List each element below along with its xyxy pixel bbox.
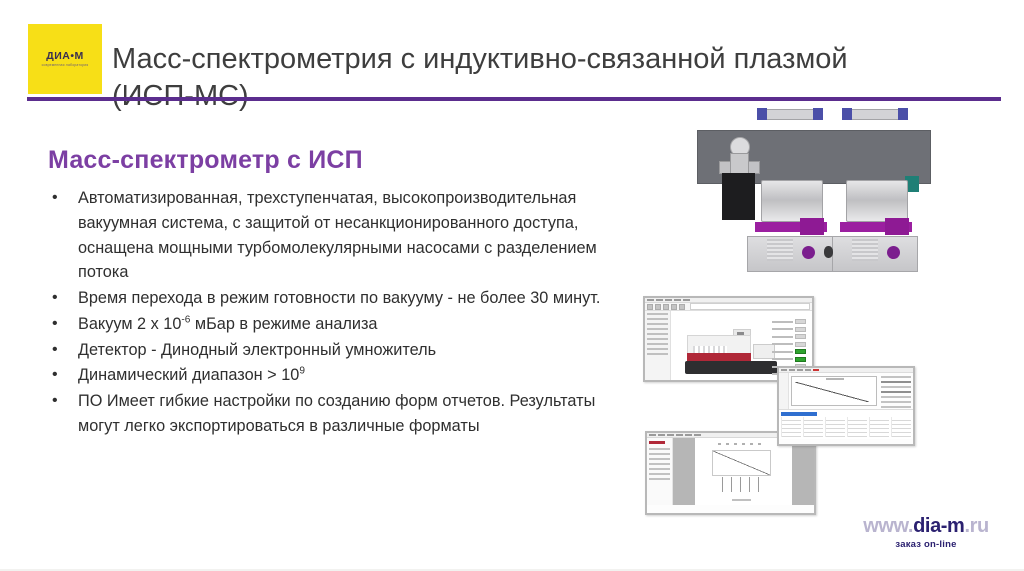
toolbar-field	[690, 303, 810, 310]
pump-knob	[887, 246, 900, 259]
menu-item	[797, 369, 803, 371]
report-footer-line	[732, 499, 751, 501]
option-row	[881, 381, 911, 383]
watermark-tld: ru	[970, 515, 989, 537]
menu-item	[805, 369, 811, 371]
flange-clamp	[898, 108, 908, 120]
bullet-list: • Автоматизированная, трехступенчатая, в…	[44, 186, 634, 440]
menu-item	[789, 369, 795, 371]
watermark-www: www	[863, 515, 908, 537]
nav-row	[647, 313, 668, 315]
report-chart	[712, 450, 770, 476]
table-column	[869, 417, 889, 437]
list-item: • Автоматизированная, трехступенчатая, в…	[44, 186, 634, 285]
plot-title-placeholder	[826, 378, 844, 380]
toolbar-button	[671, 304, 677, 310]
table-column	[847, 417, 867, 437]
status-led-active	[795, 357, 806, 362]
pump-knob	[802, 246, 815, 259]
bullet-marker: •	[52, 363, 58, 387]
status-label	[772, 336, 793, 338]
status-row	[772, 319, 806, 324]
connector-block	[800, 218, 824, 235]
menu-item	[674, 299, 681, 301]
nav-row	[649, 448, 670, 450]
turbomolecular-pump	[846, 180, 908, 222]
bullet-marker: •	[52, 186, 58, 210]
option-row	[881, 401, 911, 403]
status-led	[795, 342, 806, 347]
status-led	[795, 319, 806, 324]
status-label	[772, 328, 793, 330]
flange-clamp	[813, 108, 823, 120]
toolbar-button	[647, 304, 653, 310]
nav-row	[649, 453, 670, 455]
list-item: • ПО Имеет гибкие настройки по созданию …	[44, 389, 634, 439]
option-row	[881, 386, 911, 388]
watermark-subtitle: заказ on-line	[838, 539, 1014, 550]
status-label	[772, 321, 793, 323]
watermark-url: www.dia-m.ru	[838, 516, 1014, 536]
toolbar-button	[679, 304, 685, 310]
nav-row	[647, 318, 668, 320]
calibration-options-pane	[879, 373, 913, 409]
window-body	[647, 438, 814, 505]
list-item: • Динамический диапазон > 109	[44, 363, 634, 388]
menu-item	[658, 434, 665, 436]
status-label	[772, 358, 793, 360]
list-item: • Детектор - Динодный электронный умножи…	[44, 338, 634, 363]
title-divider-rule	[27, 97, 1001, 101]
table-column	[891, 417, 911, 437]
vacuum-system-figure	[637, 118, 1019, 286]
side-strip	[779, 373, 789, 409]
option-row	[881, 376, 911, 378]
logo-wordmark: ДИА•М	[46, 51, 84, 62]
table-row-selected	[781, 412, 817, 416]
nav-row	[647, 333, 668, 335]
list-item-text: Динамический диапазон > 10	[78, 366, 299, 384]
page-margin-right	[792, 438, 814, 505]
status-label	[772, 351, 793, 353]
company-logo: ДИА•М современная лаборатория	[28, 24, 102, 94]
option-row	[881, 391, 911, 393]
menu-item	[683, 299, 690, 301]
report-navigation-pane	[647, 438, 673, 505]
pump-port	[824, 246, 833, 258]
nav-row	[649, 478, 670, 480]
list-item-text: ПО Имеет гибкие настройки по созданию фо…	[78, 392, 595, 435]
toolbar-button	[663, 304, 669, 310]
status-label	[772, 343, 793, 345]
nav-row	[647, 343, 668, 345]
option-row	[881, 396, 911, 398]
list-item-text: Вакуум 2 х 10	[78, 315, 181, 333]
toolbar	[645, 303, 812, 311]
bullet-marker: •	[52, 389, 58, 413]
bullet-marker: •	[52, 338, 58, 362]
option-row	[881, 406, 911, 408]
calibration-panel	[779, 373, 913, 409]
status-led	[795, 334, 806, 339]
report-brand-mark	[649, 441, 665, 444]
screenshot-calibration-curve	[777, 366, 915, 446]
table-column	[803, 417, 823, 437]
list-item-text: Детектор - Динодный электронный умножите…	[78, 341, 436, 359]
calibration-line	[795, 382, 869, 402]
status-row	[772, 334, 806, 339]
status-row	[772, 327, 806, 332]
list-item: • Вакуум 2 х 10-6 мБар в режиме анализа	[44, 312, 634, 337]
flange-clamp	[757, 108, 767, 120]
status-row	[772, 357, 806, 362]
presentation-slide: ДИА•М современная лаборатория Масс-спект…	[0, 0, 1024, 571]
toolbar-button	[655, 304, 661, 310]
list-item-superscript: 9	[299, 366, 305, 377]
nav-row	[649, 473, 670, 475]
menu-item-highlighted	[813, 369, 819, 371]
bullet-marker: •	[52, 312, 58, 336]
slide-header: ДИА•М современная лаборатория Масс-спект…	[0, 0, 1024, 105]
table-column	[781, 417, 801, 437]
pump-cooling-fins	[852, 239, 878, 261]
status-row	[772, 349, 806, 354]
nav-row	[649, 468, 670, 470]
list-item-text-tail: мБар в режиме анализа	[190, 315, 377, 333]
site-watermark: www.dia-m.ru заказ on-line	[838, 516, 1014, 550]
menu-item	[667, 434, 674, 436]
report-page-preview	[695, 438, 792, 505]
nav-row	[647, 328, 668, 330]
calibration-plot	[791, 376, 877, 406]
nav-row	[647, 348, 668, 350]
menu-item	[685, 434, 692, 436]
list-item-text: Автоматизированная, трехступенчатая, выс…	[78, 189, 597, 281]
status-row	[772, 342, 806, 347]
nav-row	[649, 458, 670, 460]
slide-title: Масс-спектрометрия с индуктивно-связанно…	[112, 41, 992, 115]
list-item-text: Время перехода в режим готовности по вак…	[78, 289, 600, 307]
nav-row	[647, 323, 668, 325]
report-chart-ticks	[714, 477, 766, 492]
nav-row	[647, 338, 668, 340]
report-header-line	[718, 443, 763, 445]
navigation-pane	[645, 311, 671, 380]
logo-tagline: современная лаборатория	[42, 64, 89, 67]
menu-item	[647, 299, 654, 301]
valve-body	[722, 173, 755, 220]
menu-item	[676, 434, 683, 436]
turbomolecular-pump	[761, 180, 823, 222]
menu-item	[649, 434, 656, 436]
section-heading: Масс-спектрометр с ИСП	[48, 146, 363, 175]
pump-cooling-fins	[767, 239, 793, 261]
nav-row	[647, 353, 668, 355]
instrument-illustration	[685, 334, 777, 374]
page-margin-left	[673, 438, 695, 505]
menu-item	[665, 299, 672, 301]
flange-clamp	[842, 108, 852, 120]
table-columns	[781, 417, 911, 437]
connector-block	[885, 218, 909, 235]
bullet-marker: •	[52, 286, 58, 310]
instrument-base	[685, 361, 777, 374]
nav-row	[649, 463, 670, 465]
menu-item	[656, 299, 663, 301]
status-led-active	[795, 349, 806, 354]
table-column	[825, 417, 845, 437]
status-led	[795, 327, 806, 332]
menu-item	[781, 369, 787, 371]
menu-item	[694, 434, 701, 436]
list-item: • Время перехода в режим готовности по в…	[44, 286, 634, 311]
watermark-domain: dia-m	[913, 515, 964, 537]
results-table	[779, 409, 913, 439]
